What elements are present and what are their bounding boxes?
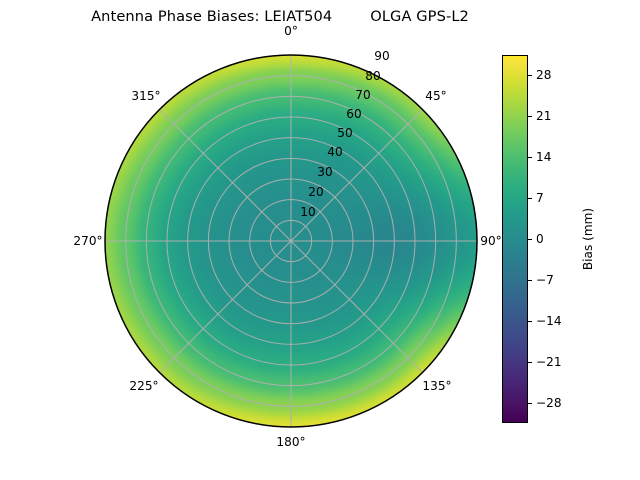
angular-tick-label-0: 0° <box>284 24 298 38</box>
colorbar-tick-mark-8 <box>528 403 532 404</box>
colorbar-tick-mark-5 <box>528 280 532 281</box>
colorbar-tick-mark-6 <box>528 321 532 322</box>
colorbar-tick-mark-2 <box>528 157 532 158</box>
radial-tick-label-10: 10 <box>300 205 315 219</box>
colorbar-tick-mark-7 <box>528 362 532 363</box>
radial-tick-label-50: 50 <box>337 126 352 140</box>
angular-tick-label-180: 180° <box>276 435 305 449</box>
angular-tick-label-90: 90° <box>480 234 501 248</box>
colorbar-tick-label-6: −14 <box>536 314 562 328</box>
page-title: Antenna Phase Biases: LEIAT504 OLGA GPS-… <box>0 8 560 25</box>
colorbar-tick-label-3: 7 <box>536 191 544 205</box>
colorbar-tick-mark-0 <box>528 75 532 76</box>
colorbar-axis-label: Bias (mm) <box>581 208 595 270</box>
colorbar-tick-mark-3 <box>528 198 532 199</box>
radial-tick-label-40: 40 <box>327 145 342 159</box>
radial-tick-label-90: 90 <box>374 49 389 63</box>
radial-tick-label-20: 20 <box>308 185 323 199</box>
colorbar-tick-mark-1 <box>528 116 532 117</box>
radial-tick-label-30: 30 <box>317 165 332 179</box>
radial-tick-label-70: 70 <box>355 88 370 102</box>
colorbar-tick-label-4: 0 <box>536 232 544 246</box>
colorbar-tick-label-2: 14 <box>536 150 551 164</box>
colorbar-tick-label-0: 28 <box>536 68 551 82</box>
colorbar-tick-mark-4 <box>528 239 532 240</box>
colorbar-tick-label-8: −28 <box>536 396 562 410</box>
colorbar-tick-label-5: −7 <box>536 273 554 287</box>
colorbar-gradient <box>502 55 528 423</box>
radial-tick-label-80: 80 <box>365 69 380 83</box>
angular-tick-label-225: 225° <box>129 379 158 393</box>
angular-tick-label-315: 315° <box>131 89 160 103</box>
angular-tick-label-45: 45° <box>425 89 446 103</box>
colorbar-tick-label-7: −21 <box>536 355 562 369</box>
angular-tick-label-270: 270° <box>73 234 102 248</box>
polar-heatmap <box>99 49 483 433</box>
colorbar: 28211470−7−14−21−28 <box>502 55 528 423</box>
radial-tick-label-60: 60 <box>346 107 361 121</box>
colorbar-tick-label-1: 21 <box>536 109 551 123</box>
figure-canvas: Antenna Phase Biases: LEIAT504 OLGA GPS-… <box>0 0 640 480</box>
angular-tick-label-135: 135° <box>422 379 451 393</box>
polar-axes: 0°45°90°135°180°225°270°315° 10203040506… <box>99 49 483 433</box>
